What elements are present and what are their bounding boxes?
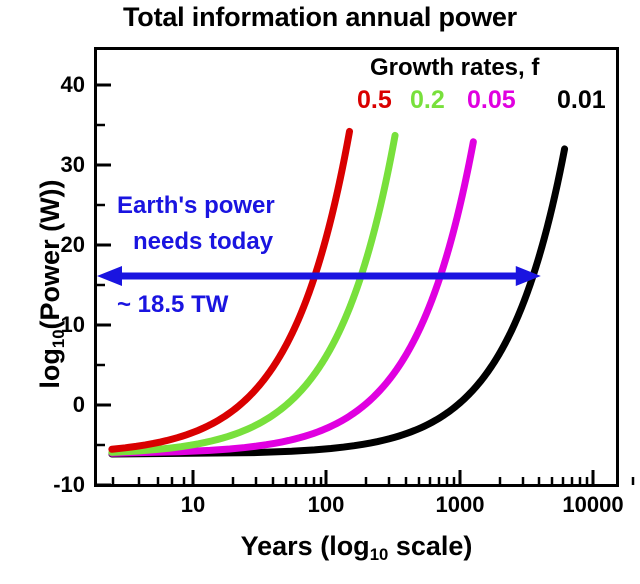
legend-title: Growth rates, f bbox=[370, 54, 539, 82]
legend-item-0.2: 0.2 bbox=[410, 86, 445, 115]
annotation-earth-power-line3: ~ 18.5 TW bbox=[117, 291, 228, 319]
y-axis-title-main: log bbox=[35, 348, 65, 389]
x-axis-title: Years (log10 scale) bbox=[95, 531, 618, 565]
chart-figure: Total information annual power bbox=[0, 0, 640, 584]
x-axis-title-sub: 10 bbox=[370, 545, 389, 564]
xtick-label-1000: 1000 bbox=[436, 492, 485, 518]
y-axis-title-sub: 10 bbox=[49, 329, 68, 348]
y-axis-title: log10(Power (W)) bbox=[35, 134, 69, 434]
xtick-label-10: 10 bbox=[181, 492, 205, 518]
ytick-label-40: 40 bbox=[30, 72, 85, 98]
legend-item-0.5: 0.5 bbox=[357, 86, 392, 115]
ytick-label-minus-10: -10 bbox=[20, 472, 85, 498]
annotation-earth-power-line2: needs today bbox=[133, 228, 273, 256]
xtick-label-100: 100 bbox=[308, 492, 345, 518]
annotation-earth-power-line1: Earth's power bbox=[117, 192, 275, 220]
legend-item-0.05: 0.05 bbox=[467, 86, 516, 115]
xtick-label-10000: 10000 bbox=[562, 492, 623, 518]
x-axis-title-main: Years (log bbox=[241, 531, 370, 561]
y-axis-title-tail: (Power (W)) bbox=[35, 179, 65, 329]
x-axis-title-tail: scale) bbox=[388, 531, 472, 561]
legend-item-0.01: 0.01 bbox=[557, 86, 606, 115]
